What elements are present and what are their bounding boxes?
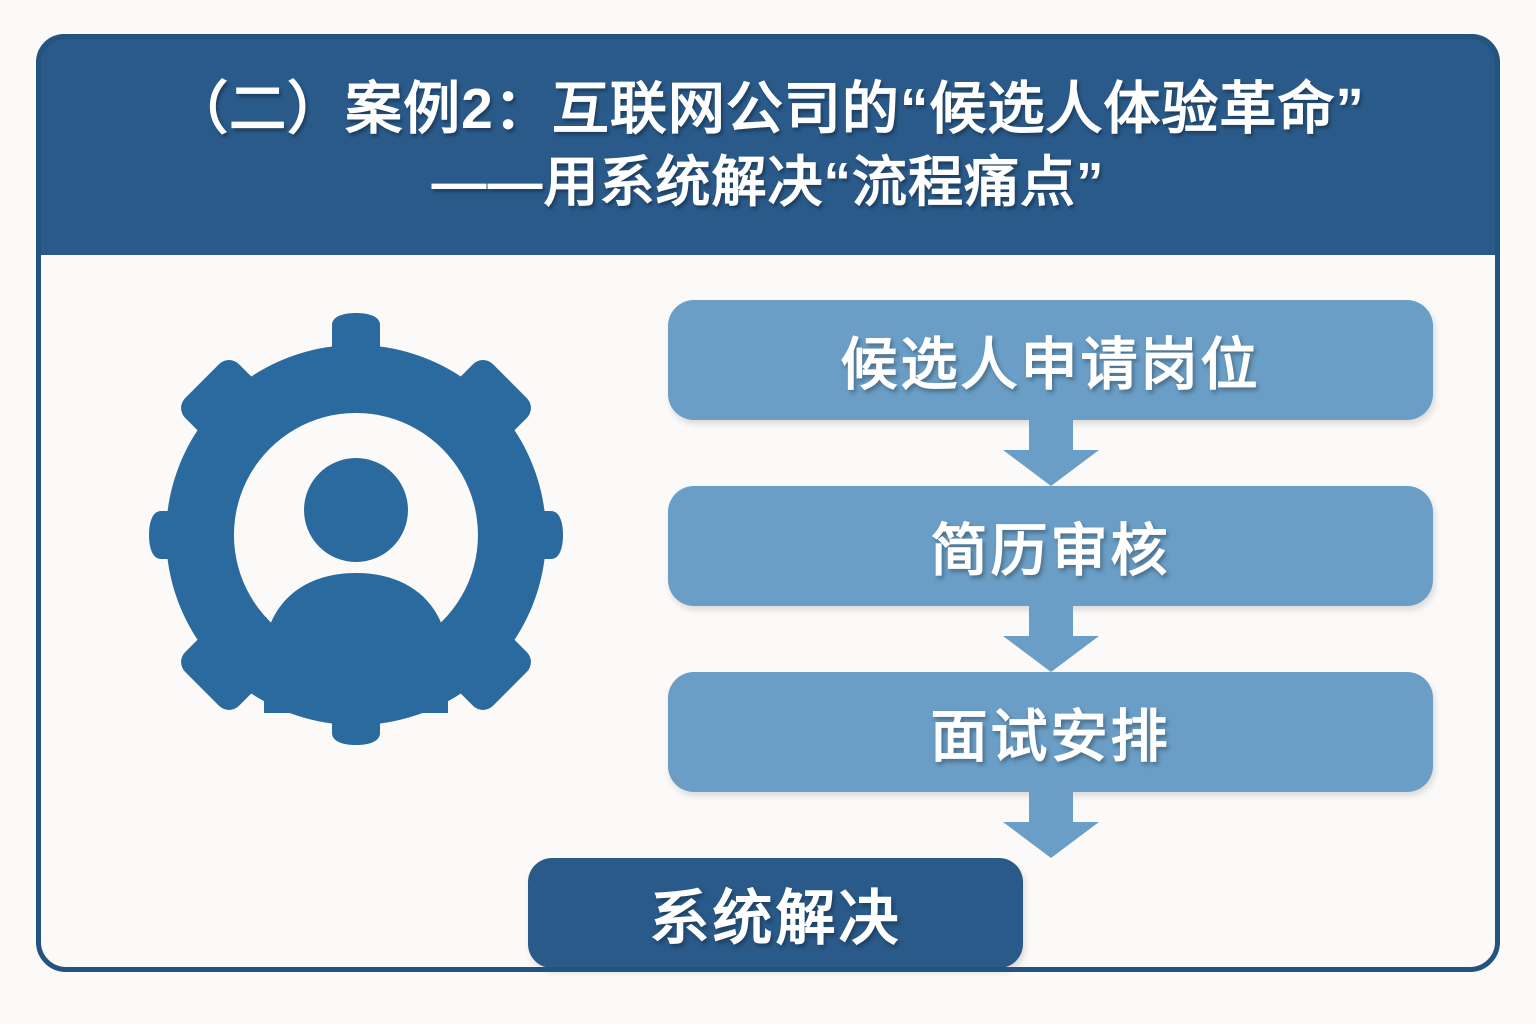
flow-outcome-label: 系统解决: [650, 870, 902, 957]
arrow-shaft: [1029, 420, 1073, 454]
slide-subtitle-line-2: ——用系统解决“流程痛点”: [431, 148, 1104, 216]
slide-header: （二）案例2：互联网公司的“候选人体验革命” ——用系统解决“流程痛点”: [36, 34, 1500, 255]
arrow-down-icon-1: [668, 420, 1433, 486]
arrow-head: [1003, 636, 1099, 672]
arrow-shaft: [1029, 792, 1073, 826]
slide-body: 候选人申请岗位 简历审核 面试安排 系统解决: [41, 255, 1495, 967]
arrow-head: [1003, 450, 1099, 486]
flow-step-3-label: 面试安排: [931, 691, 1171, 773]
process-flow: 候选人申请岗位 简历审核 面试安排 系统解决: [668, 300, 1458, 968]
gear-person-icon: [131, 295, 581, 775]
arrow-head: [1003, 822, 1099, 858]
flow-step-3[interactable]: 面试安排: [668, 672, 1433, 792]
flow-step-1[interactable]: 候选人申请岗位: [668, 300, 1433, 420]
arrow-down-icon-2: [668, 606, 1433, 672]
slide-title-line-1: （二）案例2：互联网公司的“候选人体验革命”: [171, 74, 1365, 144]
arrow-shaft: [1029, 606, 1073, 640]
flow-step-1-label: 候选人申请岗位: [841, 319, 1261, 401]
flow-outcome-box[interactable]: 系统解决: [528, 858, 1023, 968]
arrow-down-icon-3: [668, 792, 1433, 858]
flow-step-2[interactable]: 简历审核: [668, 486, 1433, 606]
flow-step-2-label: 简历审核: [931, 505, 1171, 587]
